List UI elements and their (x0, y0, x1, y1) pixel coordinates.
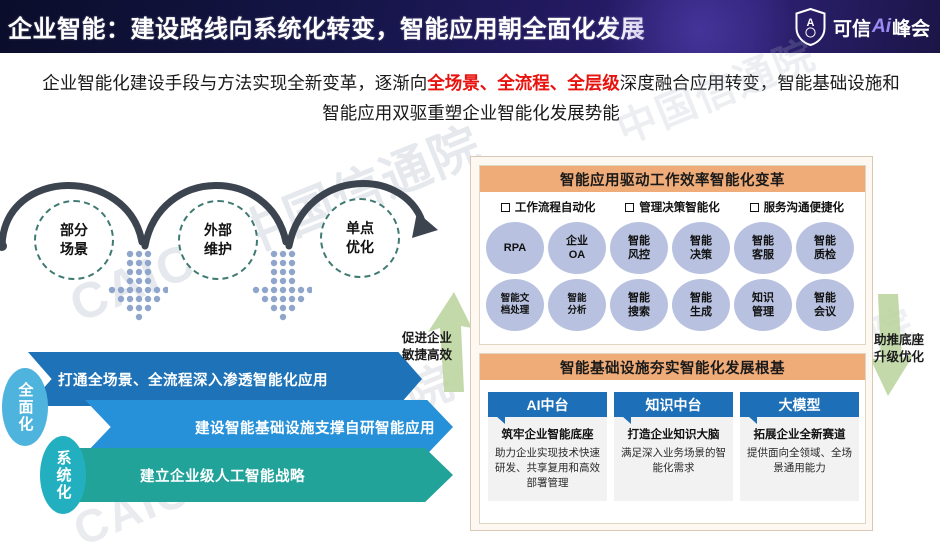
checkitem-1: 工作流程自动化 (501, 199, 596, 215)
app-bubble: 智能文档处理 (486, 279, 544, 331)
stage-circle-2: 外部维护 (178, 200, 258, 280)
apps-panel: 智能应用驱动工作效率智能化变革 工作流程自动化 管理决策智能化 服务沟通便捷化 … (479, 165, 866, 345)
infra-card-knowledge-platform: 知识中台 打造企业知识大脑 满足深入业务场景的智能化需求 (614, 392, 733, 501)
card-body: 拓展企业全新赛道 提供面向全领域、全场景通用能力 (740, 417, 859, 501)
shield-a-icon: A (795, 8, 826, 46)
stage-circle-1: 部分场景 (34, 200, 114, 280)
checkitem-2: 管理决策智能化 (625, 199, 720, 215)
page-title: 企业智能：建设路线向系统化转变，智能应用朝全面化发展 (8, 9, 645, 44)
card-title: AI中台 (488, 392, 607, 417)
card-title: 大模型 (740, 392, 859, 417)
app-bubble: 智能会议 (796, 279, 854, 331)
card-body: 打造企业知识大脑 满足深入业务场景的智能化需求 (614, 417, 733, 501)
app-bubble: 企业OA (548, 222, 606, 274)
infra-card-row: AI中台 筑牢企业智能底座 助力企业实现技术快速研发、共享复用和高效部署管理 知… (488, 392, 859, 501)
app-bubble-grid: RPA 企业OA 智能风控 智能决策 智能客服 智能质检 智能文档处理 智能分析… (486, 222, 861, 331)
card-title: 知识中台 (614, 392, 733, 417)
card-lead: 筑牢企业智能底座 (493, 427, 602, 443)
slide-header: 企业智能：建设路线向系统化转变，智能应用朝全面化发展 A 可信 Ai 峰会 (0, 0, 940, 53)
brand-text: 可信 Ai 峰会 (833, 14, 930, 41)
infra-panel-title: 智能基础设施夯实智能化发展根基 (480, 354, 865, 380)
app-bubble: 智能客服 (734, 222, 792, 274)
brand-suffix: 峰会 (892, 14, 930, 41)
infra-card-ai-platform: AI中台 筑牢企业智能底座 助力企业实现技术快速研发、共享复用和高效部署管理 (488, 392, 607, 501)
note-left: 促进企业敏捷高效 (402, 330, 452, 364)
stage-circle-3: 单点优化 (320, 198, 400, 278)
chevron-bar-2: 建设智能基础设施支撑自研智能应用 (85, 400, 453, 454)
app-bubble: 知识管理 (734, 279, 792, 331)
card-lead: 拓展企业全新赛道 (745, 427, 854, 443)
checkbox-icon (625, 203, 634, 212)
right-panel: 智能应用驱动工作效率智能化变革 工作流程自动化 管理决策智能化 服务沟通便捷化 … (470, 156, 873, 531)
chevron-label: 建设智能基础设施支撑自研智能应用 (195, 417, 435, 438)
checkitem-3: 服务沟通便捷化 (750, 199, 845, 215)
card-desc: 满足深入业务场景的智能化需求 (619, 446, 728, 476)
slide-root: 企业智能：建设路线向系统化转变，智能应用朝全面化发展 A 可信 Ai 峰会 企业… (0, 0, 940, 551)
subtitle-highlight: 全场景、全流程、全层级 (427, 73, 620, 93)
apps-panel-title: 智能应用驱动工作效率智能化变革 (480, 166, 865, 192)
card-body: 筑牢企业智能底座 助力企业实现技术快速研发、共享复用和高效部署管理 (488, 417, 607, 501)
brand-ai: Ai (872, 16, 891, 38)
chevron-label: 建立企业级人工智能战略 (140, 465, 305, 486)
brand-logo: A 可信 Ai 峰会 (795, 6, 930, 48)
chevron-bar-3: 建立企业级人工智能战略 (55, 448, 453, 502)
card-lead: 打造企业知识大脑 (619, 427, 728, 443)
infra-card-large-model: 大模型 拓展企业全新赛道 提供面向全领域、全场景通用能力 (740, 392, 859, 501)
svg-text:A: A (806, 17, 814, 29)
card-desc: 助力企业实现技术快速研发、共享复用和高效部署管理 (493, 446, 602, 491)
app-bubble: 智能生成 (672, 279, 730, 331)
apps-checkitem-row: 工作流程自动化 管理决策智能化 服务沟通便捷化 (480, 196, 865, 218)
app-bubble: RPA (486, 222, 544, 274)
app-bubble: 智能风控 (610, 222, 668, 274)
chevron-bar-1: 打通全场景、全流程深入渗透智能化应用 (28, 352, 422, 406)
tag-circle-comprehensive: 全面化 (2, 368, 48, 446)
note-right: 助推底座升级优化 (874, 332, 924, 366)
chevron-label: 打通全场景、全流程深入渗透智能化应用 (58, 369, 328, 390)
brand-prefix: 可信 (833, 14, 871, 41)
app-bubble: 智能搜索 (610, 279, 668, 331)
app-bubble: 智能分析 (548, 279, 606, 331)
tag-circle-systematic: 系统化 (40, 436, 86, 514)
dotted-down-arrow-icon (108, 250, 168, 322)
app-bubble: 智能决策 (672, 222, 730, 274)
dotted-down-arrow-icon (252, 250, 312, 322)
subtitle-text: 企业智能化建设手段与方法实现全新变革，逐渐向全场景、全流程、全层级深度融合应用转… (40, 68, 902, 128)
checkbox-icon (501, 203, 510, 212)
checkbox-icon (750, 203, 759, 212)
infra-panel: 智能基础设施夯实智能化发展根基 AI中台 筑牢企业智能底座 助力企业实现技术快速… (479, 353, 866, 524)
app-bubble: 智能质检 (796, 222, 854, 274)
card-desc: 提供面向全领域、全场景通用能力 (745, 446, 854, 476)
subtitle-part1: 企业智能化建设手段与方法实现全新变革，逐渐向 (42, 73, 427, 93)
